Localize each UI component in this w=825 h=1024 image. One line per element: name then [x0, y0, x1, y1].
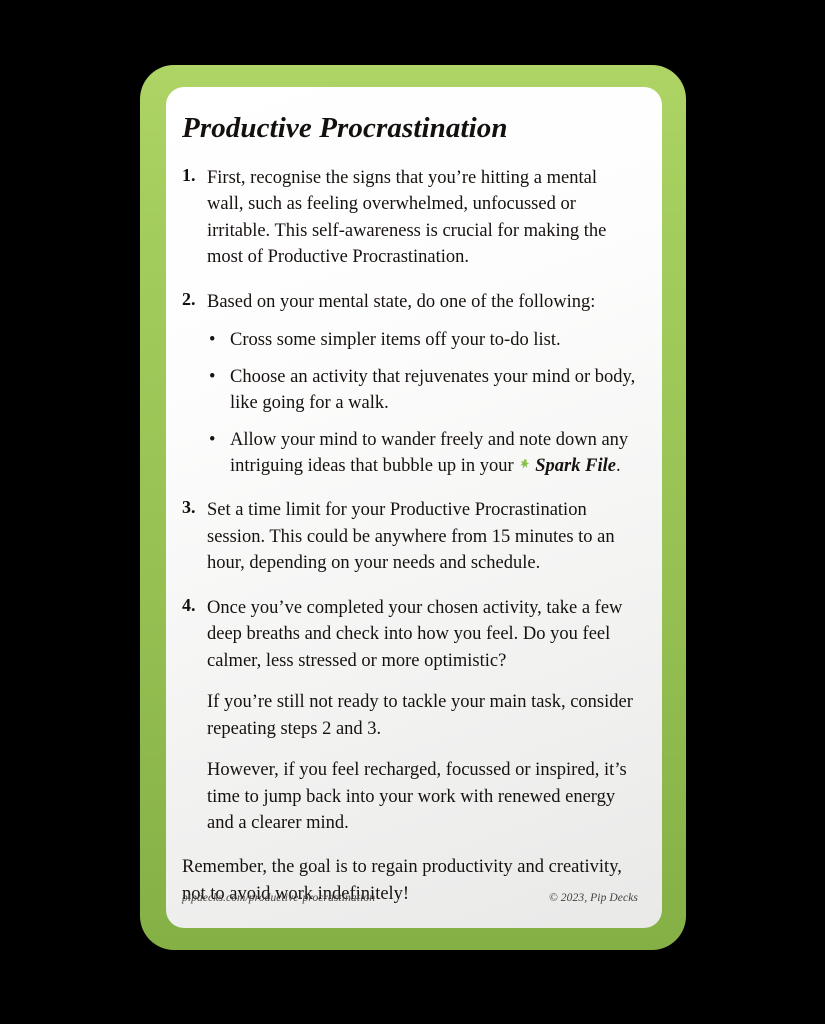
step-number: 4. — [182, 595, 196, 616]
step-number: 3. — [182, 497, 196, 518]
step-text: Set a time limit for your Productive Pro… — [207, 497, 638, 576]
list-item: • Choose an activity that rejuvenates yo… — [207, 364, 638, 417]
card-inner-panel: Productive Procrastination 1. First, rec… — [166, 87, 662, 928]
step-number: 1. — [182, 165, 196, 186]
spark-file-reference[interactable]: Spark File — [518, 456, 616, 476]
list-item: • Cross some simpler items off your to-d… — [207, 327, 638, 353]
pip-decks-card: Productive Procrastination 1. First, rec… — [140, 65, 686, 950]
list-item: • Allow your mind to wander freely and n… — [207, 427, 638, 480]
step-text: Based on your mental state, do one of th… — [207, 289, 638, 315]
step-extra-paragraph: However, if you feel recharged, focussed… — [207, 757, 638, 836]
list-item: 4. Once you’ve completed your chosen act… — [182, 595, 638, 837]
step-extra-paragraph: If you’re still not ready to tackle your… — [207, 689, 638, 742]
page-title: Productive Procrastination — [182, 113, 638, 145]
list-item: 2. Based on your mental state, do one of… — [182, 289, 638, 480]
screenshot-canvas: Productive Procrastination 1. First, rec… — [0, 0, 825, 1024]
sub-bullet-list: • Cross some simpler items off your to-d… — [207, 327, 638, 479]
footer-url[interactable]: pipdecks.com/productive-procrastination — [182, 892, 375, 904]
steps-list: 1. First, recognise the signs that you’r… — [182, 165, 638, 837]
bullet-dot-icon: • — [209, 327, 215, 353]
spark-file-label: Spark File — [535, 456, 616, 476]
step-text: First, recognise the signs that you’re h… — [207, 165, 638, 271]
bullet-text: Choose an activity that rejuvenates your… — [230, 367, 635, 413]
bullet-text-tail: . — [616, 456, 621, 476]
list-item: 3. Set a time limit for your Productive … — [182, 497, 638, 576]
bullet-dot-icon: • — [209, 427, 215, 453]
pin-icon — [518, 455, 533, 470]
bullet-text: Cross some simpler items off your to-do … — [230, 330, 561, 350]
step-number: 2. — [182, 289, 196, 310]
card-footer: pipdecks.com/productive-procrastination … — [182, 892, 638, 904]
step-text: Once you’ve completed your chosen activi… — [207, 595, 638, 674]
list-item: 1. First, recognise the signs that you’r… — [182, 165, 638, 271]
footer-copyright: © 2023, Pip Decks — [549, 892, 638, 904]
bullet-dot-icon: • — [209, 364, 215, 390]
